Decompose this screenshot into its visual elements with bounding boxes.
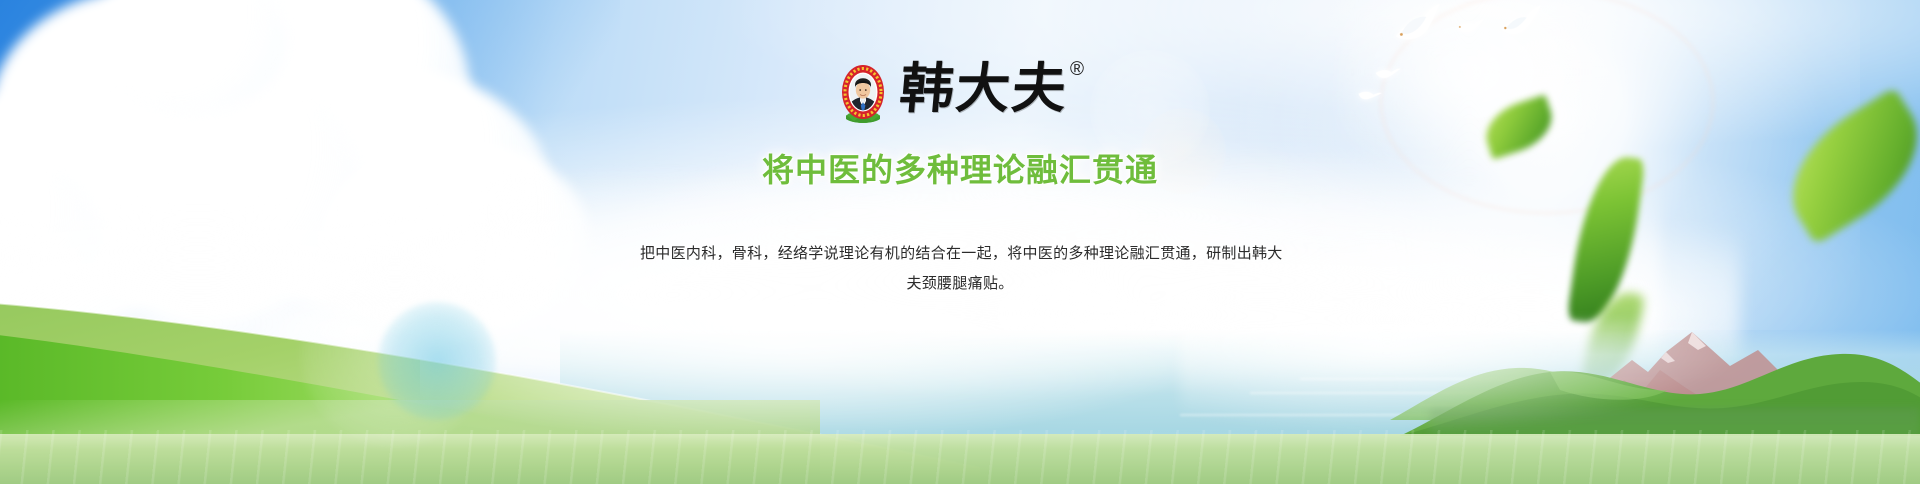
headline: 将中医的多种理论融汇贯通 bbox=[762, 150, 1158, 190]
doctor-portrait-seal-icon bbox=[836, 61, 890, 127]
brand-name: 韩大夫 bbox=[897, 58, 1070, 118]
promo-banner: 韩大夫 ® 将中医的多种理论融汇贯通 把中医内科，骨科，经络学说理论有机的结合在… bbox=[0, 0, 1920, 484]
body-copy: 把中医内科，骨科，经络学说理论有机的结合在一起，将中医的多种理论融汇贯通，研制出… bbox=[640, 238, 1280, 298]
brand-wordmark: 韩大夫 ® bbox=[900, 58, 1084, 118]
body-copy-line-2: 夫颈腰腿痛贴。 bbox=[640, 268, 1280, 298]
body-copy-line-1: 把中医内科，骨科，经络学说理论有机的结合在一起，将中医的多种理论融汇贯通，研制出… bbox=[640, 238, 1280, 268]
banner-content: 韩大夫 ® 将中医的多种理论融汇贯通 把中医内科，骨科，经络学说理论有机的结合在… bbox=[0, 0, 1920, 484]
registered-trademark-icon: ® bbox=[1070, 60, 1084, 79]
brand-logo[interactable]: 韩大夫 ® bbox=[836, 58, 1084, 128]
